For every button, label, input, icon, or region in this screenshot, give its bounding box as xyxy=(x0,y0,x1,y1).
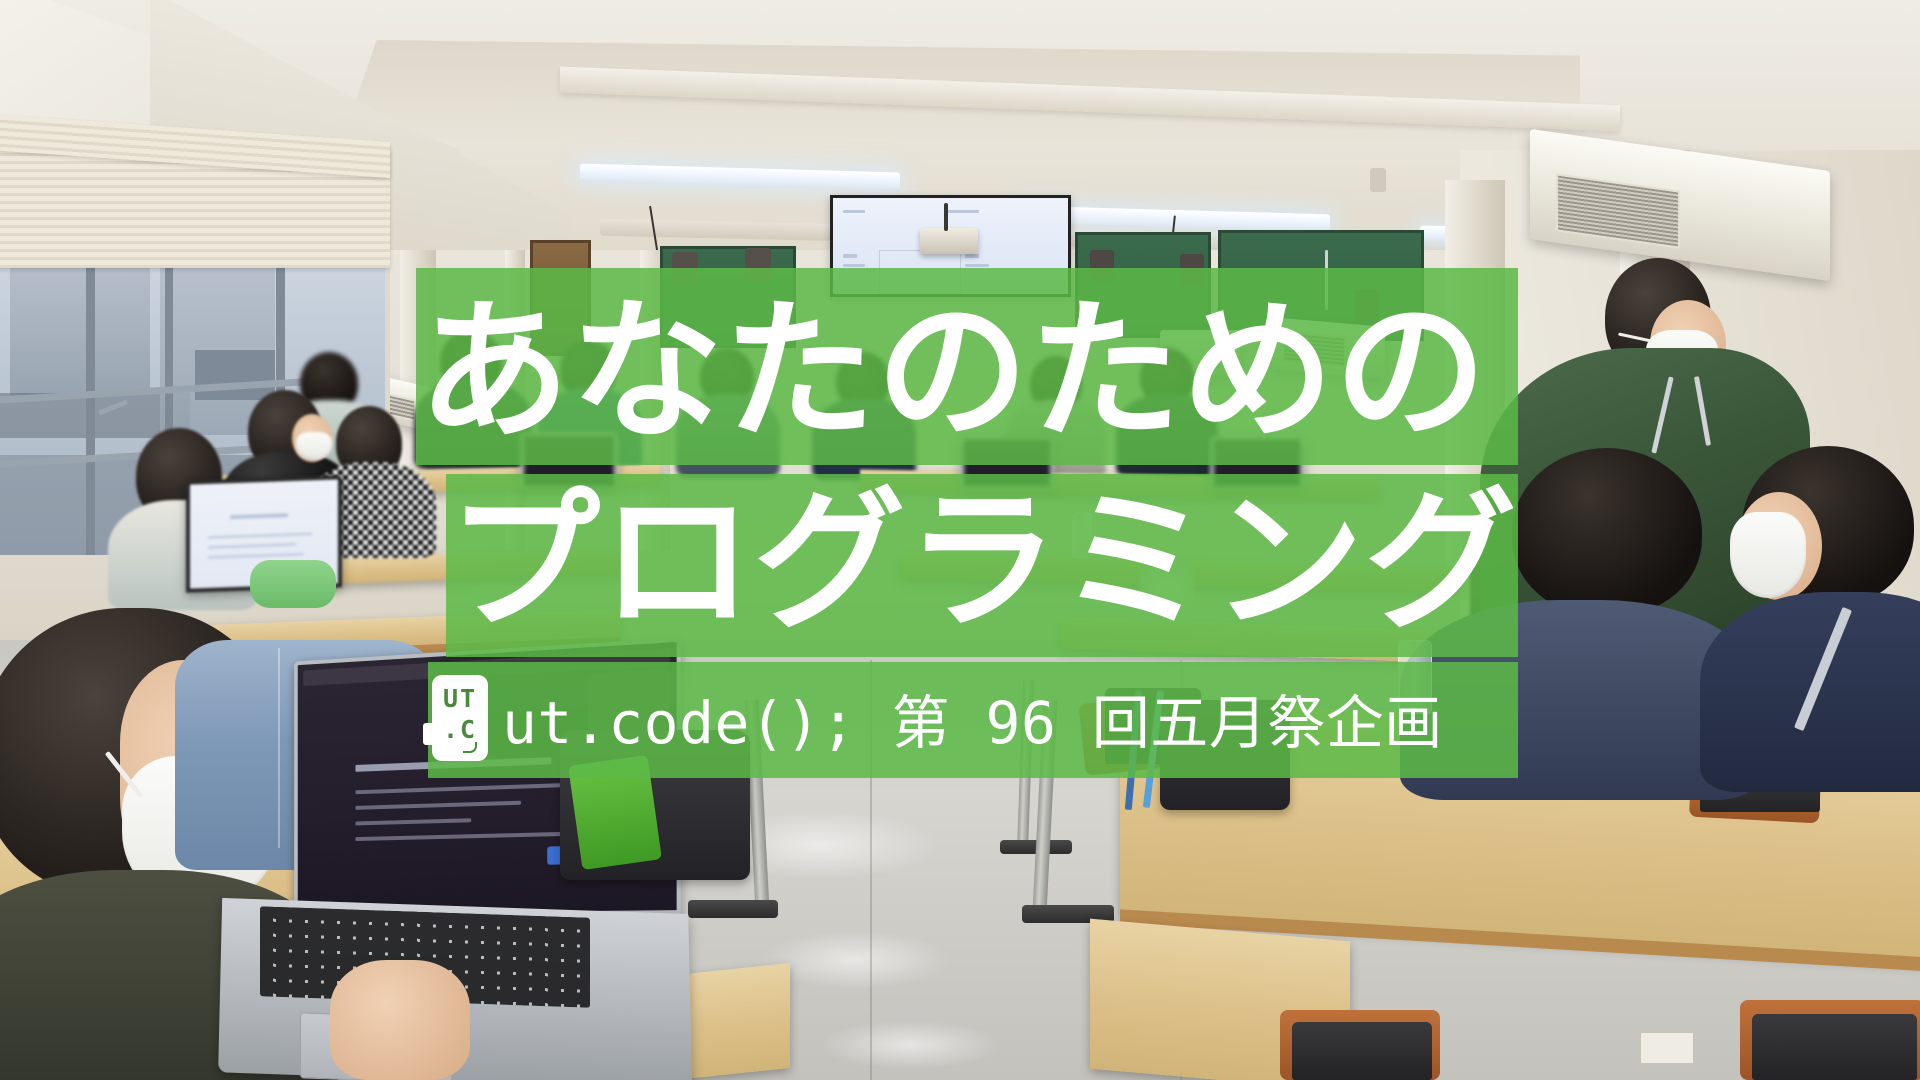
poster-canvas: あなたのための プログラミング UT .C ut.code(); 第 96 回五… xyxy=(0,0,1920,1080)
screen-text-line-3 xyxy=(843,254,857,258)
laptop-code-1 xyxy=(355,782,582,794)
laptop-mid-line-4 xyxy=(208,553,304,559)
laptop-code-2 xyxy=(355,801,520,810)
wall-device-2 xyxy=(1370,168,1386,192)
screen-text-line-4 xyxy=(843,264,865,267)
chair-back-1 xyxy=(1292,1022,1432,1080)
outside-building-1 xyxy=(10,265,150,395)
window-mullion-1 xyxy=(86,255,95,555)
screen-text-line-5 xyxy=(965,254,979,258)
student-head-right-1 xyxy=(1512,448,1702,616)
desk-foot-3 xyxy=(688,900,778,918)
ceiling-projector xyxy=(920,228,978,254)
screen-text-line-1 xyxy=(843,210,865,213)
laptop-code-4 xyxy=(355,831,592,841)
green-sleeve xyxy=(250,560,336,608)
laptop-mid-line-1 xyxy=(230,513,288,519)
jeans-seam xyxy=(278,648,280,848)
title-band-2 xyxy=(446,474,1518,657)
laptop-mid-line-2 xyxy=(208,532,312,539)
floor-outlet xyxy=(1640,1032,1694,1064)
projector-mount xyxy=(944,203,948,231)
student-mask-right-2 xyxy=(1730,512,1806,598)
student-hand-foreground xyxy=(330,960,470,1080)
subtitle-band xyxy=(428,662,1518,778)
laptop-mid-line-3 xyxy=(208,543,296,549)
student-mask-mid-2 xyxy=(296,432,332,460)
outside-building-3 xyxy=(195,350,275,400)
laptop-code-3 xyxy=(355,818,471,825)
screen-text-line-2 xyxy=(945,210,979,213)
screen-text-line-6 xyxy=(965,264,989,267)
chair-back-2 xyxy=(1752,1014,1917,1080)
floor-reflection-3 xyxy=(820,1020,1000,1070)
title-band-1 xyxy=(416,268,1518,465)
